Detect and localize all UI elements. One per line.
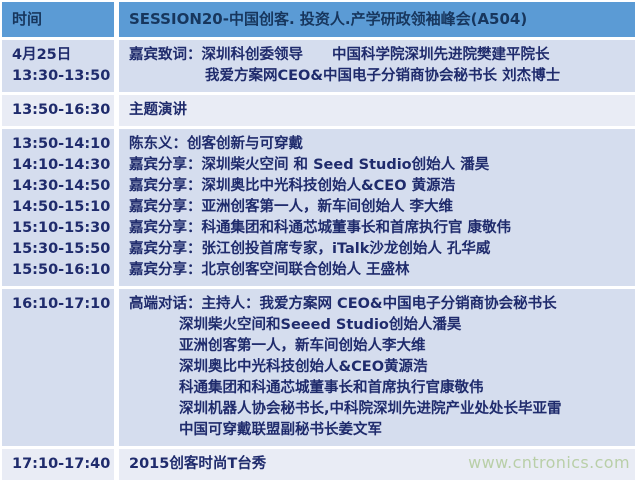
content-line: 深圳柴火空间和Seeed Studio创始人潘昊 (129, 315, 631, 336)
content-line: 深圳奥比中光科技创始人&CEO黄源浩 (129, 357, 631, 378)
table-header-row: 时间 SESSION20-中国创客. 投资人.产学研政领袖峰会(A504) (2, 2, 635, 37)
row-time-cell: 16:10-17:10 (2, 289, 114, 446)
content-line: 我爱方案网CEO&中国电子分销商协会秘书长 刘杰博士 (129, 66, 631, 87)
header-cell-time: 时间 (2, 2, 114, 37)
row-content-cell: 嘉宾致词：深圳科创委领导 中国科学院深圳先进院樊建平院长 我爱方案网CEO&中国… (119, 40, 635, 92)
time-value: 16:10-17:10 (12, 294, 114, 315)
time-value: 14:50-15:10 (12, 197, 114, 218)
row-time-cell: 13:50-14:10 14:10-14:30 14:30-14:50 14:5… (2, 129, 114, 286)
content-line: 2015创客时尚T台秀 (129, 454, 631, 475)
content-line: 深圳机器人协会秘书长,中科院深圳先进院产业处处长毕亚雷 (129, 399, 631, 420)
table-row: 16:10-17:10 高端对话：主持人：我爱方案网 CEO&中国电子分销商协会… (2, 289, 635, 446)
row-content-cell: 陈东义：创客创新与可穿戴 嘉宾分享：深圳柴火空间 和 Seed Studio创始… (119, 129, 635, 286)
time-value: 17:10-17:40 (12, 454, 114, 475)
row-content-cell: 2015创客时尚T台秀 (119, 449, 635, 480)
table-row: 13:50-16:30 主题演讲 (2, 95, 635, 126)
table-row: 4月25日 13:30-13:50 嘉宾致词：深圳科创委领导 中国科学院深圳先进… (2, 40, 635, 92)
time-value: 14:30-14:50 (12, 176, 114, 197)
time-value: 15:50-16:10 (12, 260, 114, 281)
row-content-cell: 主题演讲 (119, 95, 635, 126)
time-value: 13:30-13:50 (12, 66, 114, 87)
content-line: 嘉宾分享：深圳奥比中光科技创始人&CEO 黄源浩 (129, 176, 631, 197)
content-line: 嘉宾分享：深圳柴火空间 和 Seed Studio创始人 潘昊 (129, 155, 631, 176)
time-value: 13:50-16:30 (12, 100, 114, 121)
session-schedule-table: 时间 SESSION20-中国创客. 投资人.产学研政领袖峰会(A504) 4月… (0, 0, 638, 488)
time-value: 15:10-15:30 (12, 218, 114, 239)
content-line: 主题演讲 (129, 100, 631, 121)
content-line: 科通集团和科通芯城董事长和首席执行官康敬伟 (129, 378, 631, 399)
row-time-cell: 17:10-17:40 (2, 449, 114, 480)
session-title: SESSION20-中国创客. 投资人.产学研政领袖峰会(A504) (129, 10, 631, 29)
table-row: 17:10-17:40 2015创客时尚T台秀 (2, 449, 635, 480)
time-value: 4月25日 (12, 45, 114, 66)
content-line: 嘉宾分享：科通集团和科通芯城董事长和首席执行官 康敬伟 (129, 218, 631, 239)
content-line: 嘉宾分享：北京创客空间联合创始人 王盛林 (129, 260, 631, 281)
header-cell-title: SESSION20-中国创客. 投资人.产学研政领袖峰会(A504) (119, 2, 635, 37)
header-time-label: 时间 (12, 10, 114, 29)
content-line: 嘉宾分享：亚洲创客第一人，新车间创始人 李大维 (129, 197, 631, 218)
content-line: 中国可穿戴联盟副秘书长姜文军 (129, 420, 631, 441)
time-value: 13:50-14:10 (12, 134, 114, 155)
row-content-cell: 高端对话：主持人：我爱方案网 CEO&中国电子分销商协会秘书长 深圳柴火空间和S… (119, 289, 635, 446)
content-line: 高端对话：主持人：我爱方案网 CEO&中国电子分销商协会秘书长 (129, 294, 631, 315)
content-line: 嘉宾分享：张江创投首席专家，iTalk沙龙创始人 孔华威 (129, 239, 631, 260)
time-value: 14:10-14:30 (12, 155, 114, 176)
time-value: 15:30-15:50 (12, 239, 114, 260)
table-row: 13:50-14:10 14:10-14:30 14:30-14:50 14:5… (2, 129, 635, 286)
content-line: 陈东义：创客创新与可穿戴 (129, 134, 631, 155)
content-line: 嘉宾致词：深圳科创委领导 中国科学院深圳先进院樊建平院长 (129, 45, 631, 66)
row-time-cell: 13:50-16:30 (2, 95, 114, 126)
row-time-cell: 4月25日 13:30-13:50 (2, 40, 114, 92)
content-line: 亚洲创客第一人，新车间创始人李大维 (129, 336, 631, 357)
